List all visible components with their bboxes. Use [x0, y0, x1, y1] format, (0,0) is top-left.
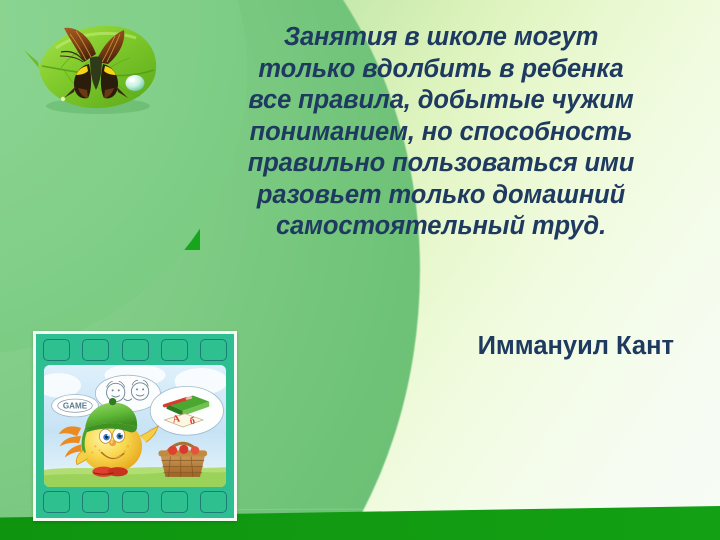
quote-line: только вдолбить в ребенка — [186, 54, 696, 86]
sprocket-hole — [82, 491, 109, 513]
sprocket-hole — [122, 339, 149, 361]
cartoon-illustration: GAME — [44, 365, 226, 487]
quote-line: все правила, добытые чужим — [186, 85, 696, 117]
sprocket-hole — [161, 339, 188, 361]
quote-line: разовьет только домашний — [186, 180, 696, 212]
svg-text:GAME: GAME — [63, 402, 88, 411]
quote-attribution: Иммануил Кант — [186, 330, 696, 362]
quote-line: пониманием, но способность — [186, 117, 696, 149]
filmstrip-sprockets-top — [43, 339, 227, 361]
sprocket-hole — [43, 491, 70, 513]
slide-canvas: Занятия в школе могут только вдолбить в … — [0, 0, 720, 540]
quote-line: Занятия в школе могут — [186, 22, 696, 54]
filmstrip-frame: GAME — [33, 331, 237, 521]
sprocket-hole — [161, 491, 188, 513]
sprocket-hole — [200, 491, 227, 513]
sprocket-hole — [122, 491, 149, 513]
sprocket-hole — [82, 339, 109, 361]
butterfly-on-leaf-image — [16, 10, 176, 125]
filmstrip-sprockets-bottom — [43, 491, 227, 513]
quote-line: правильно пользоваться ими — [186, 148, 696, 180]
quote-line: самостоятельный труд. — [186, 211, 696, 243]
water-droplet — [126, 75, 145, 91]
quote-text: Занятия в школе могут только вдолбить в … — [186, 22, 696, 243]
sprocket-hole — [43, 339, 70, 361]
sprocket-hole — [200, 339, 227, 361]
